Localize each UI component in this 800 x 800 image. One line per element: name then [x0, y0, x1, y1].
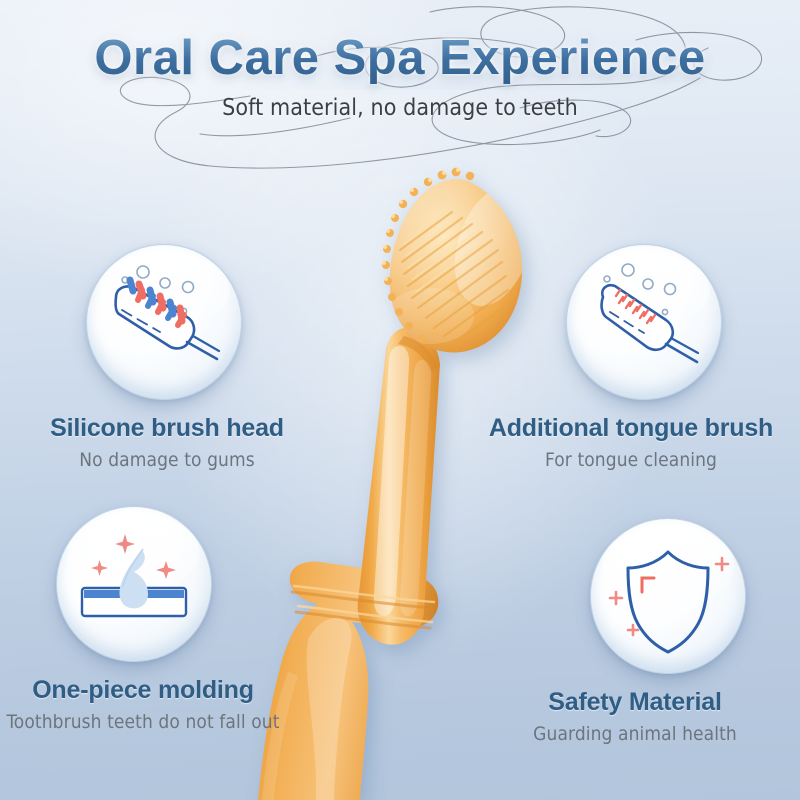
feature-title: Additional tongue brush [466, 414, 796, 443]
feature-subtitle: For tongue cleaning [466, 449, 796, 471]
feature-title: Safety Material [470, 688, 800, 717]
toothbrush-icon [86, 244, 242, 400]
feature-silicone-brush-head: Silicone brush head No damage to gums [2, 244, 332, 471]
shield-icon [590, 518, 746, 674]
feature-badge [566, 244, 722, 400]
feature-additional-tongue-brush: Additional tongue brush For tongue clean… [466, 244, 796, 471]
tongue-scraper-icon [566, 244, 722, 400]
feature-title: One-piece molding [0, 676, 308, 705]
feature-subtitle: No damage to gums [2, 449, 332, 471]
feature-title: Silicone brush head [2, 414, 332, 443]
feature-badge [86, 244, 242, 400]
page-subtitle: Soft material, no damage to teeth [0, 95, 800, 121]
product-feature-poster: Silicone brush head No damage to gums [0, 0, 800, 800]
feature-badge [56, 506, 212, 662]
feature-one-piece-molding: One-piece molding Toothbrush teeth do no… [0, 506, 308, 733]
feature-subtitle: Toothbrush teeth do not fall out [0, 711, 308, 733]
feature-badge [590, 518, 746, 674]
bristle-in-base-icon [56, 506, 212, 662]
feature-safety-material: Safety Material Guarding animal health [470, 518, 800, 745]
page-title: Oral Care Spa Experience [0, 34, 800, 84]
feature-subtitle: Guarding animal health [470, 723, 800, 745]
header: Oral Care Spa Experience Soft material, … [0, 34, 800, 121]
